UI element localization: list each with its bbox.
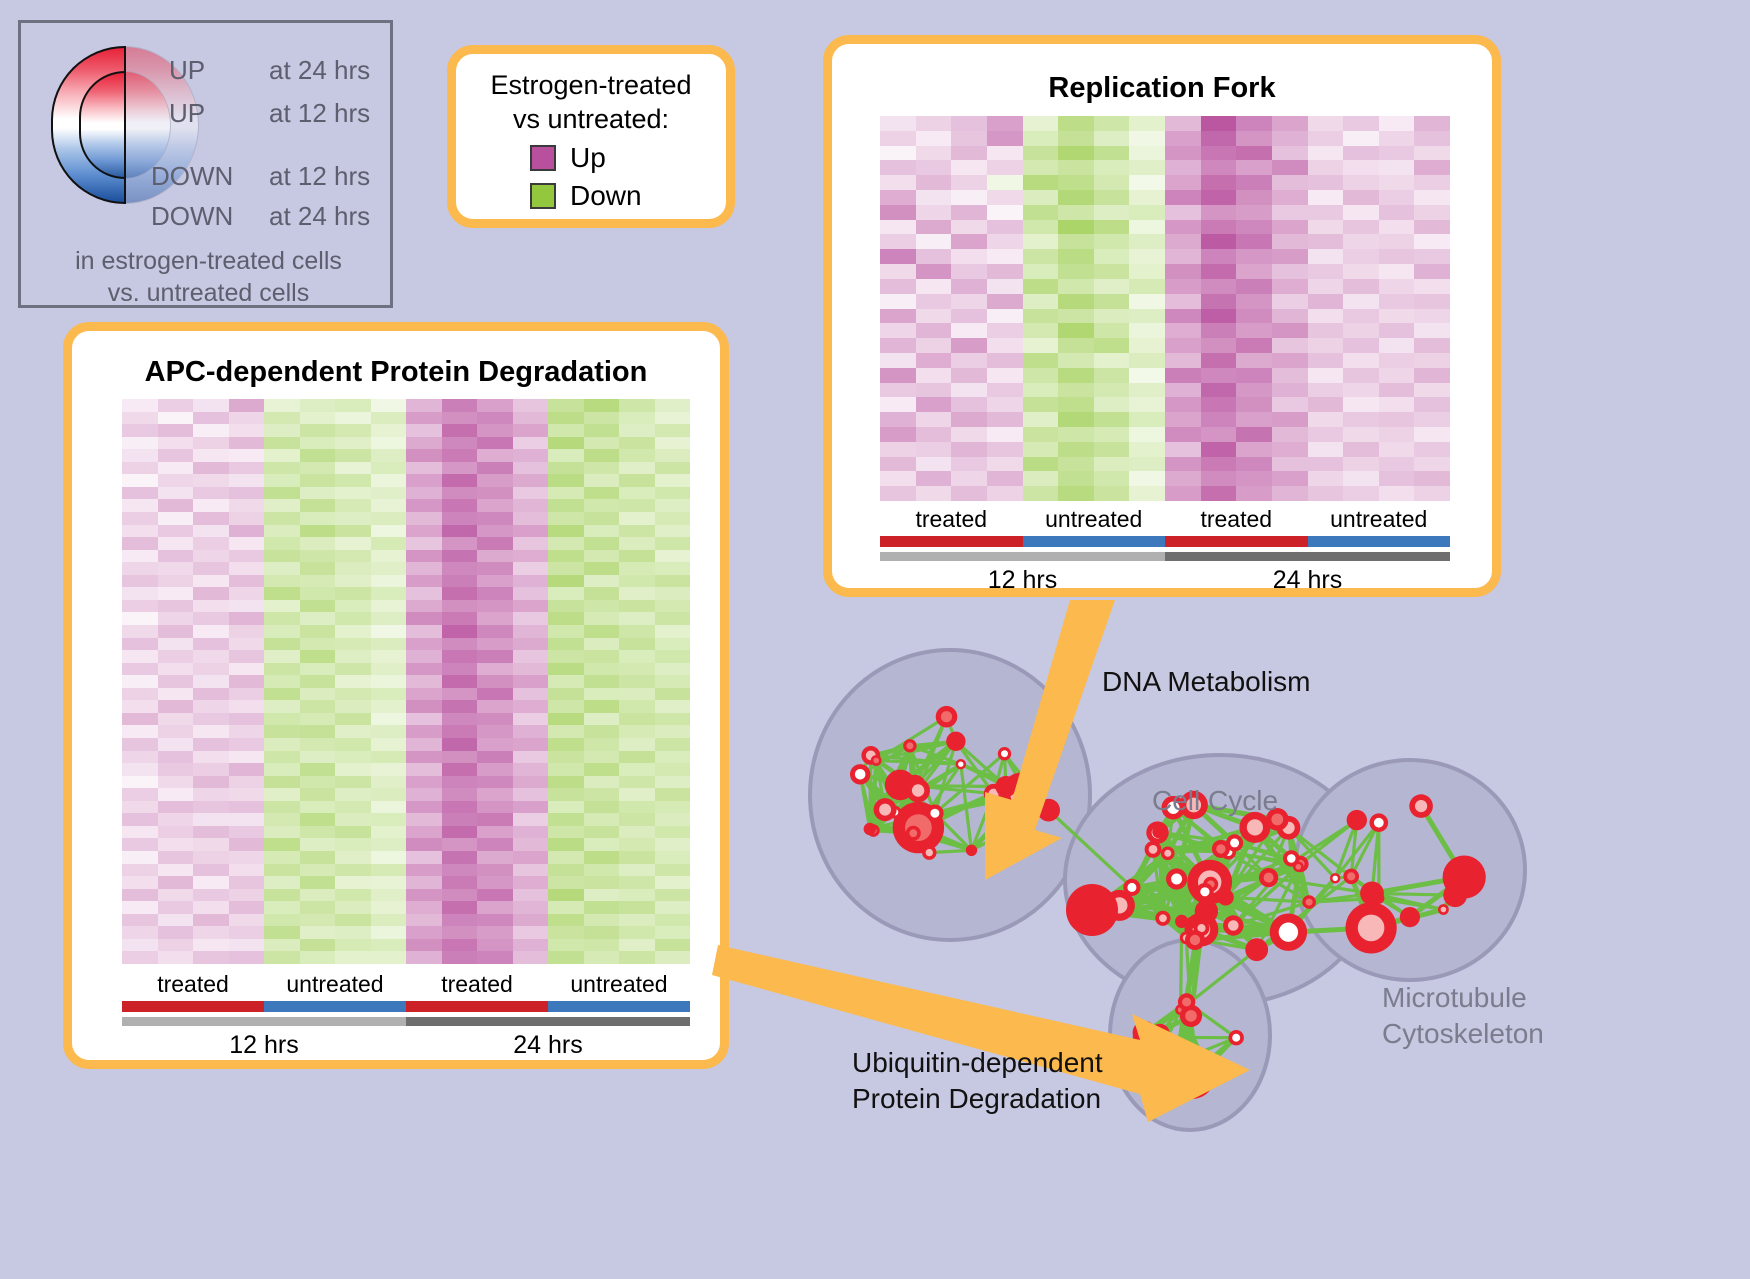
heatmap-cell xyxy=(442,412,478,425)
network-node-core xyxy=(1164,850,1171,857)
heatmap-cell xyxy=(193,813,229,826)
replication-fork-title: Replication Fork xyxy=(832,72,1492,105)
heatmap-cell xyxy=(513,738,549,751)
network-node-core xyxy=(1001,781,1012,792)
heatmap-cell xyxy=(300,550,336,563)
heatmap-cell xyxy=(1236,234,1272,249)
heatmap-cell xyxy=(1094,160,1130,175)
heatmap-cell xyxy=(477,537,513,550)
heatmap-cell xyxy=(335,675,371,688)
heatmap-cell xyxy=(1272,175,1308,190)
heatmap-cell xyxy=(655,951,691,964)
heatmap-cell xyxy=(1023,368,1059,383)
heatmap-cell xyxy=(406,612,442,625)
legend-updown-title-line2: vs untreated: xyxy=(456,102,726,136)
heatmap-cell xyxy=(264,838,300,851)
heatmap-cell xyxy=(513,851,549,864)
heatmap-cell xyxy=(1058,457,1094,472)
cluster-label-ubiquitin-line2: Protein Degradation xyxy=(852,1081,1122,1117)
heatmap-cell xyxy=(1058,294,1094,309)
heatmap-cell xyxy=(1236,383,1272,398)
heatmap-cell xyxy=(548,788,584,801)
heatmap-cell xyxy=(1201,190,1237,205)
heatmap-cell xyxy=(122,801,158,814)
heatmap-cell xyxy=(158,412,194,425)
heatmap-cell xyxy=(406,763,442,776)
heatmap-cell xyxy=(371,788,407,801)
heatmap-cell xyxy=(1272,457,1308,472)
heatmap-cell xyxy=(158,499,194,512)
network-node-core xyxy=(1374,818,1384,828)
heatmap-cell xyxy=(1236,190,1272,205)
heatmap-cell xyxy=(264,462,300,475)
network-node-core xyxy=(1441,907,1447,913)
heatmap-cell xyxy=(916,457,952,472)
heatmap-cell xyxy=(122,537,158,550)
heatmap-cell xyxy=(193,487,229,500)
network-node-core xyxy=(1171,874,1182,885)
heatmap-cell xyxy=(619,763,655,776)
heatmap-cell xyxy=(1129,486,1165,501)
heatmap-cell xyxy=(987,264,1023,279)
heatmap-cell xyxy=(1023,486,1059,501)
heatmap-cell xyxy=(1165,160,1201,175)
heatmap-cell xyxy=(1272,412,1308,427)
heatmap-cell xyxy=(951,353,987,368)
heatmap-cell xyxy=(513,663,549,676)
heatmap-cell xyxy=(158,763,194,776)
heatmap-cell xyxy=(300,512,336,525)
heatmap-cell xyxy=(122,813,158,826)
heatmap-cell xyxy=(513,864,549,877)
heatmap-cell xyxy=(1343,368,1379,383)
heatmap-cell xyxy=(1129,294,1165,309)
heatmap-cell xyxy=(371,525,407,538)
heatmap-cell xyxy=(619,399,655,412)
heatmap-cell xyxy=(619,939,655,952)
heatmap-cell xyxy=(477,751,513,764)
heatmap-cell xyxy=(1201,249,1237,264)
heatmap-cell xyxy=(916,353,952,368)
heatmap-cell xyxy=(1129,338,1165,353)
legend-updown-title: Estrogen-treated vs untreated: xyxy=(456,68,726,136)
heatmap-cell xyxy=(264,826,300,839)
heatmap-cell xyxy=(122,625,158,638)
heatmap-cell xyxy=(1129,353,1165,368)
heatmap-cell xyxy=(442,437,478,450)
heatmap-cell xyxy=(300,876,336,889)
heatmap-cell xyxy=(548,612,584,625)
heatmap-cell xyxy=(371,562,407,575)
heatmap-cell xyxy=(193,801,229,814)
heatmap-cell xyxy=(1165,205,1201,220)
heatmap-cell xyxy=(406,813,442,826)
heatmap-cell xyxy=(158,813,194,826)
heatmap-cell xyxy=(987,338,1023,353)
heatmap-cell xyxy=(1129,131,1165,146)
heatmap-cell xyxy=(1201,131,1237,146)
heatmap-cell xyxy=(158,939,194,952)
heatmap-cell xyxy=(477,462,513,475)
heatmap-cell xyxy=(1379,220,1415,235)
heatmap-cell xyxy=(406,788,442,801)
heatmap-cell xyxy=(335,901,371,914)
heatmap-cell xyxy=(442,838,478,851)
heatmap-cell xyxy=(987,427,1023,442)
heatmap-cell xyxy=(122,700,158,713)
heatmap-cell xyxy=(987,249,1023,264)
heatmap-cell xyxy=(1129,175,1165,190)
heatmap-cell xyxy=(158,399,194,412)
apc-heatmap xyxy=(122,399,690,964)
heatmap-cell xyxy=(655,663,691,676)
heatmap-cell xyxy=(916,146,952,161)
heatmap-cell xyxy=(406,951,442,964)
heatmap-cell xyxy=(442,562,478,575)
heatmap-cell xyxy=(158,788,194,801)
group-label: treated xyxy=(1165,506,1308,533)
heatmap-cell xyxy=(406,776,442,789)
heatmap-cell xyxy=(158,864,194,877)
network-node-core xyxy=(879,804,891,816)
heatmap-cell xyxy=(655,864,691,877)
heatmap-cell xyxy=(1343,353,1379,368)
heatmap-cell xyxy=(229,851,265,864)
network-node-core xyxy=(969,847,975,853)
heatmap-cell xyxy=(1023,175,1059,190)
heatmap-cell xyxy=(1414,264,1450,279)
heatmap-cell xyxy=(548,951,584,964)
heatmap-cell xyxy=(987,383,1023,398)
heatmap-cell xyxy=(158,713,194,726)
network-node-core xyxy=(1127,883,1136,892)
heatmap-cell xyxy=(1165,486,1201,501)
heatmap-cell xyxy=(951,442,987,457)
heatmap-cell xyxy=(951,279,987,294)
heatmap-cell xyxy=(371,876,407,889)
heatmap-cell xyxy=(619,437,655,450)
heatmap-cell xyxy=(1343,457,1379,472)
heatmap-cell xyxy=(880,220,916,235)
network-node-core xyxy=(941,711,952,722)
heatmap-cell xyxy=(548,575,584,588)
heatmap-cell xyxy=(1414,412,1450,427)
heatmap-cell xyxy=(335,713,371,726)
heatmap-cell xyxy=(1129,427,1165,442)
heatmap-cell xyxy=(1343,220,1379,235)
heatmap-cell xyxy=(513,537,549,550)
network-node-core xyxy=(912,784,924,796)
heatmap-cell xyxy=(229,788,265,801)
network-node-core xyxy=(1347,872,1355,880)
heatmap-cell xyxy=(951,175,987,190)
heatmap-cell xyxy=(951,383,987,398)
heatmap-cell xyxy=(1272,220,1308,235)
heatmap-cell xyxy=(477,688,513,701)
heatmap-cell xyxy=(1236,397,1272,412)
heatmap-cell xyxy=(916,397,952,412)
heatmap-cell xyxy=(880,160,916,175)
cluster-label-ubiquitin-line1: Ubiquitin-dependent xyxy=(852,1045,1122,1081)
heatmap-cell xyxy=(300,951,336,964)
heatmap-cell xyxy=(655,600,691,613)
heatmap-cell xyxy=(1414,309,1450,324)
heatmap-cell xyxy=(619,901,655,914)
heatmap-cell xyxy=(584,512,620,525)
heatmap-cell xyxy=(584,638,620,651)
heatmap-cell xyxy=(1343,205,1379,220)
heatmap-cell xyxy=(300,813,336,826)
heatmap-cell xyxy=(442,851,478,864)
heatmap-cell xyxy=(300,600,336,613)
heatmap-cell xyxy=(335,889,371,902)
heatmap-cell xyxy=(193,600,229,613)
heatmap-cell xyxy=(584,412,620,425)
heatmap-cell xyxy=(880,264,916,279)
heatmap-cell xyxy=(916,116,952,131)
heatmap-cell xyxy=(193,562,229,575)
heatmap-cell xyxy=(442,663,478,676)
heatmap-cell xyxy=(548,838,584,851)
heatmap-cell xyxy=(1094,353,1130,368)
network-node-core xyxy=(1228,920,1239,931)
heatmap-cell xyxy=(880,412,916,427)
heatmap-cell xyxy=(158,926,194,939)
heatmap-cell xyxy=(880,294,916,309)
heatmap-cell xyxy=(513,525,549,538)
heatmap-cell xyxy=(158,951,194,964)
heatmap-cell xyxy=(1236,146,1272,161)
heatmap-cell xyxy=(300,851,336,864)
heatmap-cell xyxy=(1023,442,1059,457)
heatmap-cell xyxy=(655,525,691,538)
heatmap-cell xyxy=(300,525,336,538)
apc-time-bar xyxy=(122,1017,690,1026)
network-node-core xyxy=(926,849,933,856)
network-node-core xyxy=(1205,1065,1210,1070)
heatmap-cell xyxy=(1308,279,1344,294)
heatmap-cell xyxy=(371,487,407,500)
heatmap-cell xyxy=(1379,427,1415,442)
heatmap-cell xyxy=(584,612,620,625)
network-node-core xyxy=(1178,918,1185,925)
heatmap-cell xyxy=(371,399,407,412)
heatmap-cell xyxy=(193,424,229,437)
heatmap-cell xyxy=(1201,397,1237,412)
heatmap-cell xyxy=(619,550,655,563)
heatmap-cell xyxy=(300,914,336,927)
heatmap-cell xyxy=(513,625,549,638)
heatmap-cell xyxy=(951,457,987,472)
network-node-core xyxy=(1449,889,1461,901)
heatmap-cell xyxy=(229,838,265,851)
heatmap-cell xyxy=(1272,442,1308,457)
legend-key-up-24: UP xyxy=(169,55,205,86)
heatmap-cell xyxy=(1343,397,1379,412)
heatmap-cell xyxy=(548,926,584,939)
heatmap-cell xyxy=(1379,205,1415,220)
legend-item-down: Down xyxy=(530,180,642,212)
heatmap-cell xyxy=(300,901,336,914)
heatmap-cell xyxy=(1023,249,1059,264)
heatmap-cell xyxy=(406,926,442,939)
apc-treatment-bar xyxy=(122,1001,690,1012)
heatmap-cell xyxy=(335,474,371,487)
heatmap-cell xyxy=(193,612,229,625)
heatmap-cell xyxy=(264,449,300,462)
network-node-core xyxy=(1155,1029,1165,1039)
heatmap-cell xyxy=(193,738,229,751)
heatmap-cell xyxy=(1165,323,1201,338)
heatmap-cell xyxy=(122,675,158,688)
heatmap-cell xyxy=(158,700,194,713)
heatmap-cell xyxy=(442,788,478,801)
network-node-core xyxy=(1149,845,1158,854)
heatmap-cell xyxy=(655,487,691,500)
heatmap-cell xyxy=(122,939,158,952)
heatmap-cell xyxy=(1165,294,1201,309)
heatmap-cell xyxy=(1201,457,1237,472)
heatmap-cell xyxy=(619,688,655,701)
heatmap-cell xyxy=(442,424,478,437)
heatmap-cell xyxy=(442,700,478,713)
heatmap-cell xyxy=(229,462,265,475)
heatmap-cell xyxy=(619,801,655,814)
network-node-core xyxy=(1180,1082,1188,1090)
heatmap-cell xyxy=(1058,175,1094,190)
heatmap-cell xyxy=(158,638,194,651)
heatmap-cell xyxy=(619,876,655,889)
heatmap-cell xyxy=(1236,205,1272,220)
heatmap-cell xyxy=(1308,427,1344,442)
heatmap-cell xyxy=(619,512,655,525)
heatmap-cell xyxy=(1129,205,1165,220)
heatmap-cell xyxy=(122,738,158,751)
heatmap-cell xyxy=(1094,457,1130,472)
panel-apc-degradation: APC-dependent Protein Degradation treate… xyxy=(63,322,729,1069)
heatmap-cell xyxy=(229,600,265,613)
heatmap-cell xyxy=(916,249,952,264)
heatmap-cell xyxy=(442,474,478,487)
heatmap-cell xyxy=(264,399,300,412)
heatmap-cell xyxy=(442,462,478,475)
heatmap-cell xyxy=(1414,353,1450,368)
heatmap-cell xyxy=(987,234,1023,249)
heatmap-cell xyxy=(584,587,620,600)
heatmap-cell xyxy=(1094,279,1130,294)
heatmap-cell xyxy=(880,383,916,398)
heatmap-cell xyxy=(300,625,336,638)
heatmap-cell xyxy=(1023,397,1059,412)
heatmap-cell xyxy=(371,901,407,914)
heatmap-cell xyxy=(548,462,584,475)
heatmap-cell xyxy=(193,525,229,538)
heatmap-cell xyxy=(158,851,194,864)
heatmap-cell xyxy=(513,399,549,412)
heatmap-cell xyxy=(655,437,691,450)
apc-time-labels: 12 hrs24 hrs xyxy=(122,1031,690,1060)
heatmap-cell xyxy=(1414,442,1450,457)
heatmap-cell xyxy=(1236,338,1272,353)
heatmap-cell xyxy=(193,663,229,676)
heatmap-cell xyxy=(513,587,549,600)
heatmap-cell xyxy=(122,914,158,927)
heatmap-cell xyxy=(655,901,691,914)
heatmap-cell xyxy=(1308,146,1344,161)
heatmap-cell xyxy=(193,462,229,475)
heatmap-cell xyxy=(584,650,620,663)
heatmap-cell xyxy=(584,851,620,864)
heatmap-cell xyxy=(371,889,407,902)
heatmap-cell xyxy=(1272,471,1308,486)
heatmap-cell xyxy=(406,437,442,450)
group-color-bar xyxy=(548,1001,690,1012)
heatmap-cell xyxy=(406,751,442,764)
heatmap-cell xyxy=(1272,279,1308,294)
heatmap-cell xyxy=(1165,249,1201,264)
heatmap-cell xyxy=(477,813,513,826)
network-node-core xyxy=(1138,1027,1150,1039)
heatmap-cell xyxy=(1236,323,1272,338)
heatmap-cell xyxy=(1236,175,1272,190)
heatmap-cell xyxy=(916,234,952,249)
heatmap-cell xyxy=(584,550,620,563)
heatmap-cell xyxy=(477,499,513,512)
heatmap-cell xyxy=(300,562,336,575)
heatmap-cell xyxy=(1023,279,1059,294)
heatmap-cell xyxy=(1023,309,1059,324)
heatmap-cell xyxy=(548,550,584,563)
heatmap-cell xyxy=(477,625,513,638)
heatmap-cell xyxy=(193,437,229,450)
heatmap-cell xyxy=(1094,427,1130,442)
heatmap-cell xyxy=(477,575,513,588)
heatmap-cell xyxy=(442,499,478,512)
heatmap-cell xyxy=(477,951,513,964)
heatmap-cell xyxy=(1272,309,1308,324)
heatmap-cell xyxy=(406,939,442,952)
heatmap-cell xyxy=(1094,190,1130,205)
heatmap-cell xyxy=(1165,412,1201,427)
heatmap-cell xyxy=(193,688,229,701)
group-label: untreated xyxy=(1023,506,1166,533)
heatmap-cell xyxy=(1165,131,1201,146)
heatmap-cell xyxy=(1343,338,1379,353)
heatmap-cell xyxy=(513,751,549,764)
heatmap-cell xyxy=(1094,116,1130,131)
heatmap-cell xyxy=(513,914,549,927)
heatmap-cell xyxy=(371,713,407,726)
heatmap-cell xyxy=(584,751,620,764)
heatmap-cell xyxy=(406,462,442,475)
heatmap-cell xyxy=(193,864,229,877)
heatmap-cell xyxy=(1058,442,1094,457)
heatmap-cell xyxy=(406,725,442,738)
heatmap-cell xyxy=(655,713,691,726)
heatmap-cell xyxy=(442,738,478,751)
heatmap-cell xyxy=(513,725,549,738)
heatmap-cell xyxy=(584,939,620,952)
network-node-core xyxy=(1352,815,1363,826)
heatmap-cell xyxy=(619,474,655,487)
heatmap-cell xyxy=(229,487,265,500)
heatmap-cell xyxy=(1272,264,1308,279)
heatmap-cell xyxy=(987,353,1023,368)
heatmap-cell xyxy=(1058,160,1094,175)
heatmap-cell xyxy=(951,131,987,146)
heatmap-cell xyxy=(513,412,549,425)
heatmap-cell xyxy=(371,550,407,563)
